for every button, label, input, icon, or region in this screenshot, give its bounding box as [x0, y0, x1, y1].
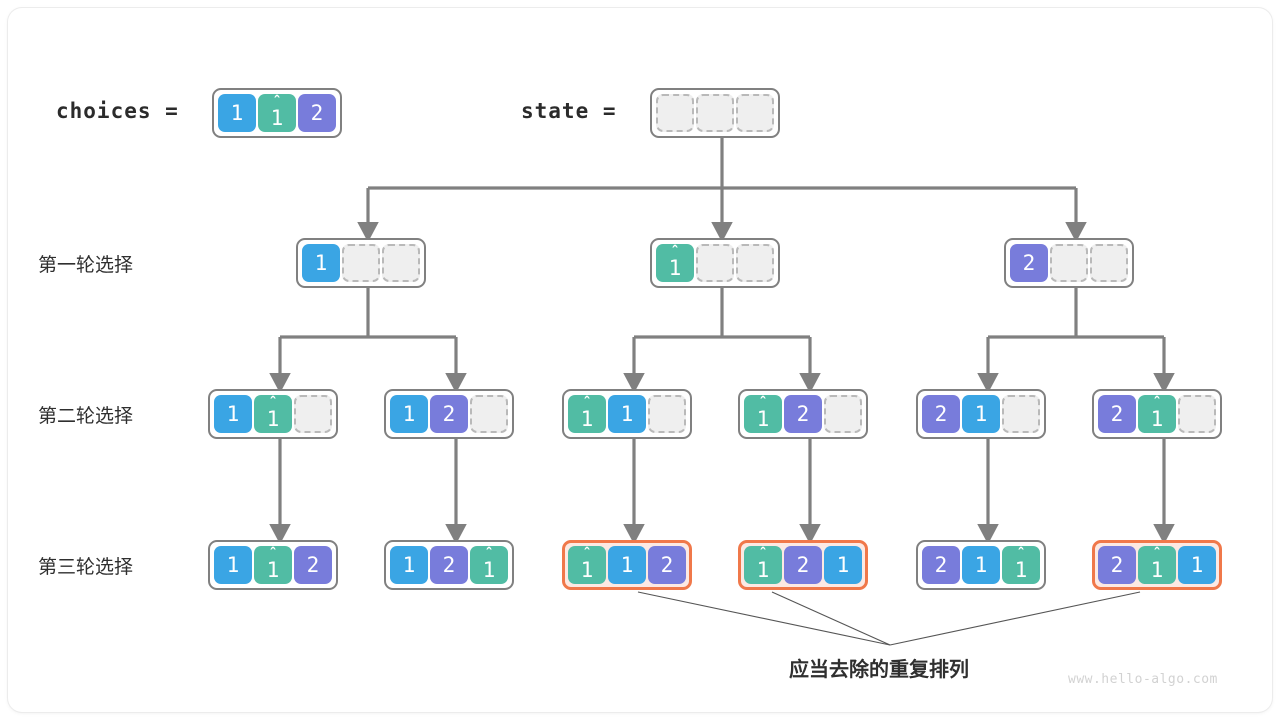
cell-value: 2	[1111, 404, 1124, 425]
cell-value: 1	[621, 404, 634, 425]
duplicate-permutations-note: 应当去除的重复排列	[789, 653, 969, 682]
r1-c2-cell-3	[736, 244, 774, 282]
state-label: state =	[521, 99, 617, 123]
cell-value: 2	[935, 555, 948, 576]
state-cell-3	[736, 94, 774, 132]
tree-node-r2-c1: 1ˆ1	[208, 389, 338, 439]
cell-value: 2	[443, 555, 456, 576]
choices-label: choices =	[56, 99, 179, 123]
tree-node-r2-c5: 21	[916, 389, 1046, 439]
r3-c5-cell-3: ˆ1	[1002, 546, 1040, 584]
r3-c4-cell-3: 1	[824, 546, 862, 584]
cell-value: 2	[443, 404, 456, 425]
r1-c2-cell-1: ˆ1	[656, 244, 694, 282]
cell-value: 1	[483, 560, 496, 581]
cell-value: 1	[975, 404, 988, 425]
cell-value: 1	[621, 555, 634, 576]
tree-node-r3-c1: 1ˆ12	[208, 540, 338, 590]
r3-c3-cell-3: 2	[648, 546, 686, 584]
r1-c3-cell-2	[1050, 244, 1088, 282]
r2-c4-cell-3	[824, 395, 862, 433]
r1-c2-cell-2	[696, 244, 734, 282]
cell-value: 2	[935, 404, 948, 425]
tree-node-r3-c6: 2ˆ11	[1092, 540, 1222, 590]
cell-value: 2	[797, 404, 810, 425]
cell-value: 1	[1015, 560, 1028, 581]
r2-c5-cell-1: 2	[922, 395, 960, 433]
r3-c1-cell-1: 1	[214, 546, 252, 584]
r3-c2-cell-3: ˆ1	[470, 546, 508, 584]
r2-c3-cell-1: ˆ1	[568, 395, 606, 433]
r2-c6-cell-1: 2	[1098, 395, 1136, 433]
r1-c1-cell-1: 1	[302, 244, 340, 282]
cell-value: 1	[267, 409, 280, 430]
r2-c2-cell-3	[470, 395, 508, 433]
cell-value: 1	[271, 108, 284, 129]
r3-c5-cell-2: 1	[962, 546, 1000, 584]
r3-c1-cell-2: ˆ1	[254, 546, 292, 584]
tree-node-r2-c6: 2ˆ1	[1092, 389, 1222, 439]
cell-value: 1	[1151, 560, 1164, 581]
cell-value: 1	[581, 560, 594, 581]
tree-node-r3-c4: ˆ121	[738, 540, 868, 590]
r2-c6-cell-3	[1178, 395, 1216, 433]
tree-node-r1-c1: 1	[296, 238, 426, 288]
r2-c2-cell-2: 2	[430, 395, 468, 433]
state-array	[650, 88, 780, 138]
r2-c1-cell-2: ˆ1	[254, 395, 292, 433]
r3-c6-cell-2: ˆ1	[1138, 546, 1176, 584]
cell-value: 1	[267, 560, 280, 581]
r3-c1-cell-3: 2	[294, 546, 332, 584]
r3-c5-cell-1: 2	[922, 546, 960, 584]
r3-c4-cell-1: ˆ1	[744, 546, 782, 584]
choices-cell-1: 1	[218, 94, 256, 132]
diagram-canvas: choices = 1ˆ12 state = 第一轮选择 第二轮选择 第三轮选择…	[0, 0, 1280, 720]
r3-c2-cell-1: 1	[390, 546, 428, 584]
tree-node-r1-c2: ˆ1	[650, 238, 780, 288]
cell-value: 2	[311, 103, 324, 124]
r2-c4-cell-1: ˆ1	[744, 395, 782, 433]
tree-node-r2-c3: ˆ11	[562, 389, 692, 439]
r1-c1-cell-3	[382, 244, 420, 282]
watermark: www.hello-algo.com	[1068, 672, 1218, 687]
row-label-round-3: 第三轮选择	[38, 552, 133, 579]
choices-array: 1ˆ12	[212, 88, 342, 138]
cell-value: 1	[403, 555, 416, 576]
r3-c4-cell-2: 2	[784, 546, 822, 584]
r1-c3-cell-1: 2	[1010, 244, 1048, 282]
cell-value: 1	[227, 404, 240, 425]
cell-value: 1	[581, 409, 594, 430]
r3-c6-cell-1: 2	[1098, 546, 1136, 584]
tree-node-r1-c3: 2	[1004, 238, 1134, 288]
r3-c2-cell-2: 2	[430, 546, 468, 584]
cell-value: 1	[757, 560, 770, 581]
tree-node-r3-c2: 12ˆ1	[384, 540, 514, 590]
tree-node-r2-c4: ˆ12	[738, 389, 868, 439]
r3-c6-cell-3: 1	[1178, 546, 1216, 584]
cell-value: 1	[403, 404, 416, 425]
r2-c5-cell-2: 1	[962, 395, 1000, 433]
r2-c6-cell-2: ˆ1	[1138, 395, 1176, 433]
cell-value: 1	[975, 555, 988, 576]
state-cell-1	[656, 94, 694, 132]
r2-c2-cell-1: 1	[390, 395, 428, 433]
r1-c3-cell-3	[1090, 244, 1128, 282]
choices-cell-3: 2	[298, 94, 336, 132]
r3-c3-cell-2: 1	[608, 546, 646, 584]
cell-value: 1	[227, 555, 240, 576]
figure-card	[8, 8, 1272, 712]
r2-c3-cell-2: 1	[608, 395, 646, 433]
r2-c4-cell-2: 2	[784, 395, 822, 433]
r2-c1-cell-3	[294, 395, 332, 433]
tree-node-r2-c2: 12	[384, 389, 514, 439]
cell-value: 1	[837, 555, 850, 576]
r2-c1-cell-1: 1	[214, 395, 252, 433]
r1-c1-cell-2	[342, 244, 380, 282]
cell-value: 2	[661, 555, 674, 576]
cell-value: 1	[315, 253, 328, 274]
cell-value: 2	[1111, 555, 1124, 576]
cell-value: 2	[1023, 253, 1036, 274]
cell-value: 1	[1191, 555, 1204, 576]
row-label-round-1: 第一轮选择	[38, 250, 133, 277]
row-label-round-2: 第二轮选择	[38, 401, 133, 428]
state-cell-2	[696, 94, 734, 132]
r2-c3-cell-3	[648, 395, 686, 433]
cell-value: 1	[1151, 409, 1164, 430]
r3-c3-cell-1: ˆ1	[568, 546, 606, 584]
r2-c5-cell-3	[1002, 395, 1040, 433]
tree-node-r3-c5: 21ˆ1	[916, 540, 1046, 590]
cell-value: 1	[757, 409, 770, 430]
choices-cell-2: ˆ1	[258, 94, 296, 132]
tree-node-r3-c3: ˆ112	[562, 540, 692, 590]
cell-value: 1	[669, 258, 682, 279]
cell-value: 2	[307, 555, 320, 576]
cell-value: 2	[797, 555, 810, 576]
cell-value: 1	[231, 103, 244, 124]
